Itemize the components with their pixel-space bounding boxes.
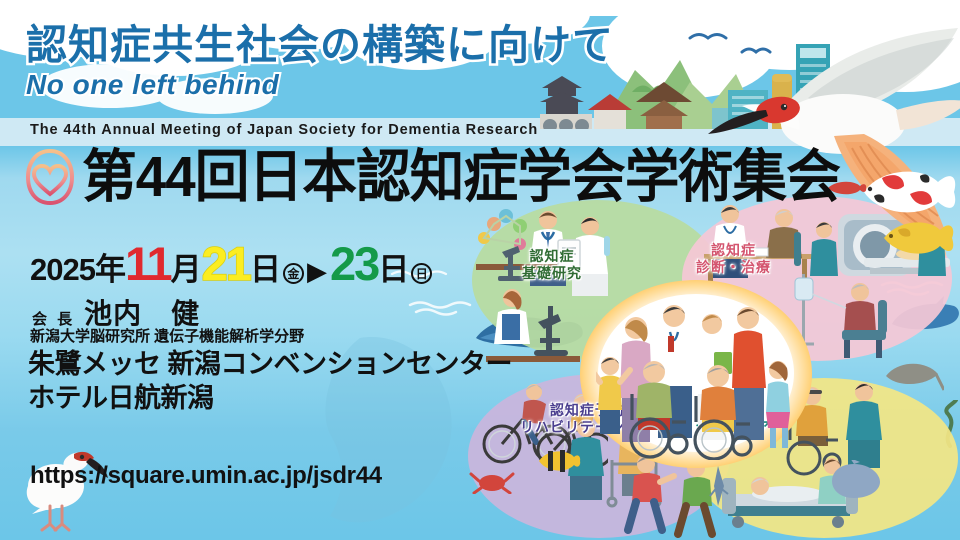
event-date: 2025年 11 月 21 日 金 ▶ 23 日 日 <box>30 244 432 289</box>
date-weekday-start: 金 <box>283 263 304 284</box>
main-title: 第44回日本認知症学会学術集会 <box>82 149 840 206</box>
family-group-illustration <box>596 290 796 460</box>
date-weekday-end: 日 <box>411 263 432 284</box>
squid-icon <box>702 464 742 508</box>
date-day-unit-start: 日 <box>250 244 281 289</box>
date-month-number: 11 <box>125 245 171 283</box>
headline-japanese: 認知症共生社会の構築に向けて <box>26 24 614 67</box>
conference-url[interactable]: https://square.umin.ac.jp/jsdr44 <box>30 462 382 490</box>
date-month-unit: 月 <box>171 244 202 289</box>
date-year: 2025年 <box>30 244 125 289</box>
chairperson-affiliation: 新潟大学脳研究所 遺伝子機能解析学分野 <box>30 325 304 346</box>
zone-label-diagnosis-line2: 診断・治療 <box>696 259 771 276</box>
zone-label-basic-research-line1: 認知症 <box>522 248 582 265</box>
english-subtitle: The 44th Annual Meeting of Japan Society… <box>30 122 538 138</box>
tropical-fish-icon <box>536 446 582 476</box>
venue-line-1: 朱鷺メッセ 新潟コンベンションセンター <box>28 348 512 382</box>
venue-block: 朱鷺メッセ 新潟コンベンションセンター ホテル日航新潟 <box>28 348 512 416</box>
date-day-start: 21 <box>202 245 250 283</box>
jsdr-heart-logo-icon <box>22 146 78 208</box>
crab-icon <box>468 468 516 494</box>
date-day-end: 23 <box>330 245 378 283</box>
koi-fish-yellow <box>880 212 958 264</box>
headline-block: 認知症共生社会の構築に向けて No one left behind <box>26 24 614 101</box>
zone-label-basic-research-line2: 基礎研究 <box>522 265 582 282</box>
venue-line-2: ホテル日航新潟 <box>28 382 512 416</box>
zone-label-basic-research: 認知症 基礎研究 <box>522 248 582 281</box>
main-title-row: 第44回日本認知症学会学術集会 <box>22 146 871 208</box>
conference-poster: 認知症共生社会の構築に向けて No one left behind The 44… <box>0 0 960 540</box>
headline-english: No one left behind <box>26 69 614 101</box>
date-day-unit-end: 日 <box>378 244 409 289</box>
date-range-arrow-icon: ▶ <box>307 256 327 287</box>
sunfish-icon <box>826 460 884 500</box>
